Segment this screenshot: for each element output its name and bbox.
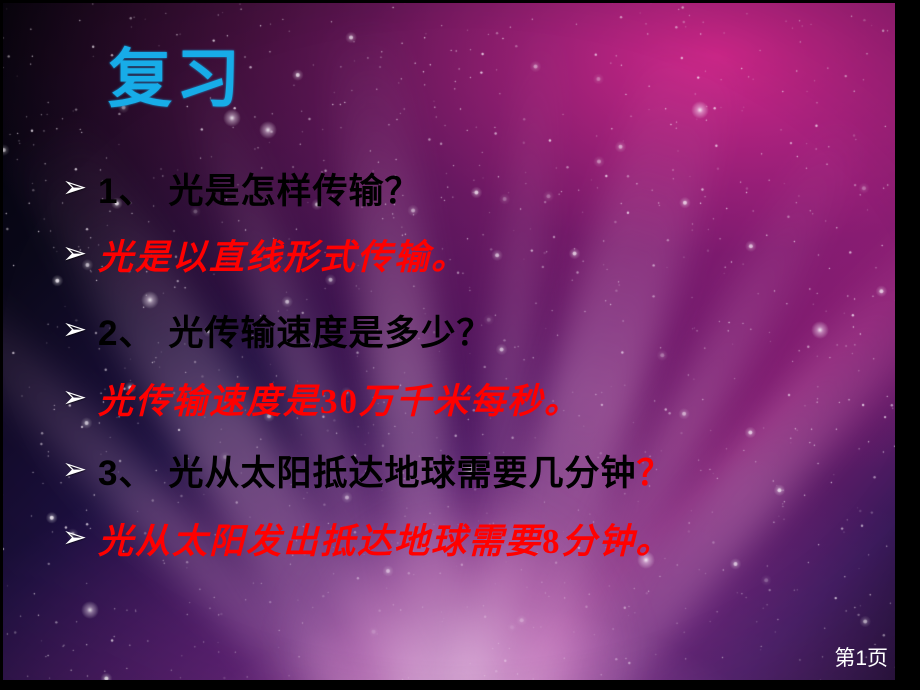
bullet-arrow-icon: ➢ <box>62 239 96 269</box>
page-number-suffix: 页 <box>867 646 888 670</box>
list-item: ➢ 1、光是怎样传输？ <box>62 158 862 218</box>
list-item: ➢ 光从太阳发出抵达地球需要8分钟。 <box>62 508 862 568</box>
answer-text-2: 光传输速度是30万千米每秒。 <box>98 373 581 424</box>
frame-bar-top <box>0 0 920 3</box>
answer-body-1: 光是以直线形式传输。 <box>98 237 468 278</box>
presentation-slide: 复习 ➢ 1、光是怎样传输？ ➢ 光是以直线形式传输。 ➢ 2、光传输速度是多少… <box>0 0 920 690</box>
list-item: ➢ 3、光从太阳抵达地球需要几分钟？ <box>62 440 862 500</box>
frame-bar-left <box>0 0 3 690</box>
question-body-3: 光从太阳抵达地球需要几分钟 <box>168 454 636 494</box>
page-number-value: 1 <box>855 647 867 670</box>
bullet-arrow-icon: ➢ <box>62 173 96 203</box>
question-number-2: 2、 <box>98 314 154 353</box>
frame-bar-bottom <box>0 680 920 690</box>
question-number-1: 1、 <box>98 172 154 211</box>
page-number: 第1页 <box>834 642 888 672</box>
answer-tail-3: 分钟。 <box>562 521 673 562</box>
question-text-3: 3、光从太阳抵达地球需要几分钟？ <box>98 445 673 496</box>
page-number-prefix: 第 <box>834 646 855 670</box>
bullet-arrow-icon: ➢ <box>62 523 96 553</box>
answer-text-1: 光是以直线形式传输。 <box>98 229 468 280</box>
bullet-arrow-icon: ➢ <box>62 315 96 345</box>
question-mark-3: ？ <box>636 454 672 494</box>
question-text-2: 2、光传输速度是多少？ <box>98 305 492 356</box>
list-item: ➢ 2、光传输速度是多少？ <box>62 300 862 360</box>
answer-body-3: 光从太阳发出抵达地球需要 <box>98 521 542 562</box>
bullet-arrow-icon: ➢ <box>62 455 96 485</box>
bullet-arrow-icon: ➢ <box>62 383 96 413</box>
frame-bar-right <box>895 0 920 690</box>
question-number-3: 3、 <box>98 454 154 493</box>
bullet-list: ➢ 1、光是怎样传输？ ➢ 光是以直线形式传输。 ➢ 2、光传输速度是多少？ ➢… <box>62 158 862 568</box>
answer-text-3: 光从太阳发出抵达地球需要8分钟。 <box>98 513 673 564</box>
answer-value-2: 30 <box>320 382 359 421</box>
question-body-1: 光是怎样传输？ <box>168 172 420 212</box>
question-body-2: 光传输速度是多少？ <box>168 314 492 354</box>
question-text-1: 1、光是怎样传输？ <box>98 163 420 214</box>
answer-value-3: 8 <box>542 522 562 561</box>
slide-title: 复习 <box>108 48 244 112</box>
list-item: ➢ 光传输速度是30万千米每秒。 <box>62 368 862 428</box>
answer-tail-2: 万千米每秒。 <box>359 381 581 422</box>
answer-body-2: 光传输速度是 <box>98 381 320 422</box>
list-item: ➢ 光是以直线形式传输。 <box>62 224 862 284</box>
